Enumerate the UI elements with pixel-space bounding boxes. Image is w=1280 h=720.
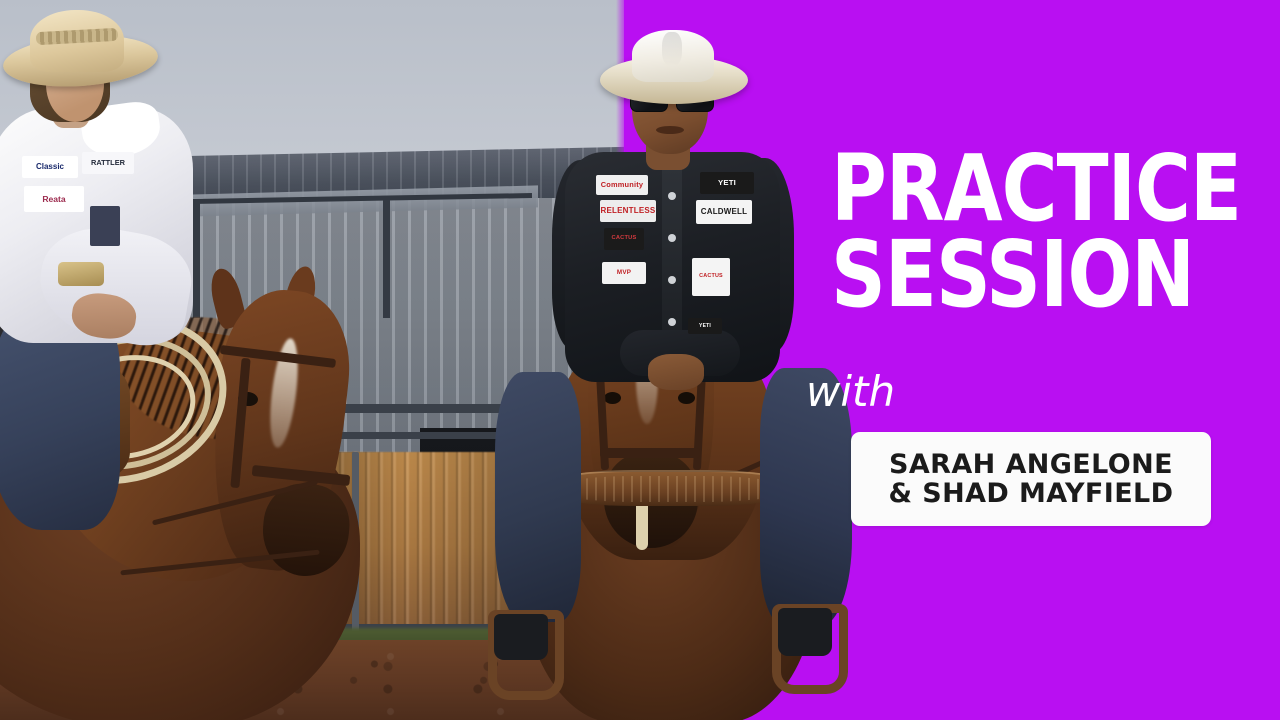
text-overlay: PRACTICE SESSION with SARAH ANGELONE & S… (0, 0, 1280, 720)
presenters-card: SARAH ANGELONE & SHAD MAYFIELD (851, 432, 1211, 526)
thumbnail-canvas: ClassicRATTLERReata (0, 0, 1280, 720)
page-title: PRACTICE SESSION (831, 146, 1217, 319)
with-label: with (806, 371, 895, 413)
presenter-line-2: & SHAD MAYFIELD (889, 479, 1174, 508)
presenter-line-1: SARAH ANGELONE (889, 450, 1173, 479)
